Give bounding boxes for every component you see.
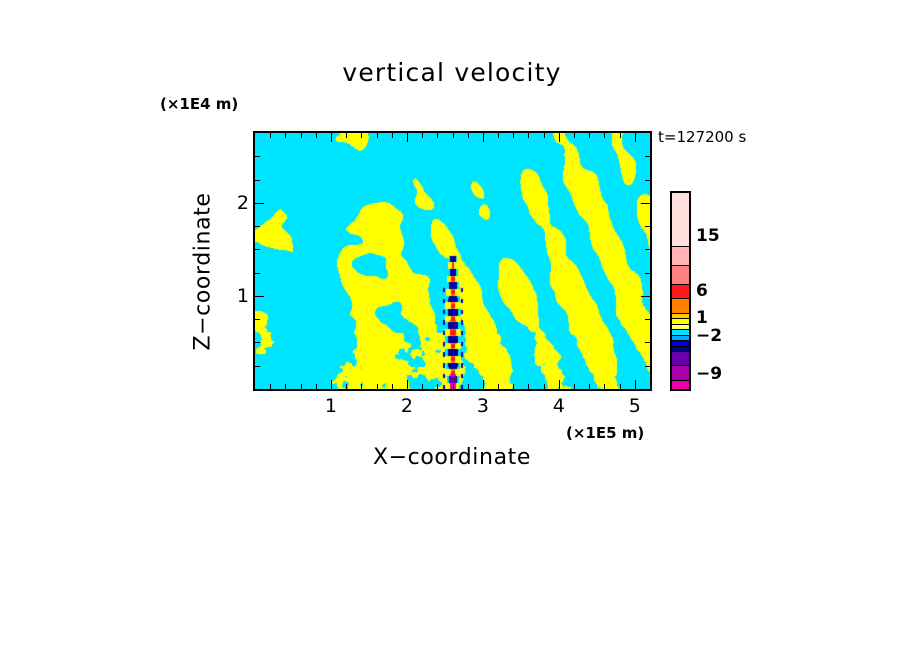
colorbar-band (672, 352, 689, 366)
axis-tick (316, 384, 317, 389)
axis-tick (620, 133, 621, 138)
axis-tick (437, 133, 438, 138)
axis-tick (574, 133, 575, 138)
axis-tick (453, 133, 454, 138)
colorbar-label--2: −2 (696, 326, 722, 346)
x-tick-label-1: 1 (325, 395, 337, 417)
axis-tick (641, 203, 650, 204)
plot-area (253, 131, 652, 391)
axis-tick (285, 384, 286, 389)
axis-tick (316, 133, 317, 138)
axis-tick (422, 133, 423, 138)
axis-tick (346, 384, 347, 389)
y-tick-label-1: 1 (223, 285, 249, 307)
axis-tick (574, 384, 575, 389)
axis-tick (483, 133, 484, 142)
axis-tick (589, 384, 590, 389)
x-tick-label-4: 4 (553, 395, 565, 417)
axis-tick (255, 203, 264, 204)
axis-tick (641, 296, 650, 297)
axis-tick (645, 226, 650, 227)
axis-tick (377, 133, 378, 138)
y-axis-unit-label: (×1E4 m) (160, 95, 238, 113)
axis-tick (498, 133, 499, 138)
colorbar-band (672, 285, 689, 299)
axis-tick (604, 133, 605, 138)
axis-tick (346, 133, 347, 138)
colorbar-label-15: 15 (696, 226, 720, 246)
x-tick-label-2: 2 (401, 395, 413, 417)
axis-tick (270, 133, 271, 138)
axis-tick (635, 380, 636, 389)
y-axis-title-text: Z−coordinate (191, 172, 216, 372)
axis-tick (285, 133, 286, 138)
axis-tick (645, 156, 650, 157)
axis-tick (620, 384, 621, 389)
axis-tick (361, 133, 362, 138)
axis-tick (255, 273, 260, 274)
axis-tick (270, 384, 271, 389)
axis-tick (422, 384, 423, 389)
axis-tick (544, 384, 545, 389)
axis-tick (255, 296, 264, 297)
axis-tick (528, 384, 529, 389)
axis-tick (255, 319, 260, 320)
time-annotation: t=127200 s (658, 128, 746, 146)
axis-tick (645, 366, 650, 367)
axis-tick (392, 133, 393, 138)
axis-tick (255, 226, 260, 227)
x-tick-label-5: 5 (629, 395, 641, 417)
axis-tick (255, 249, 260, 250)
colorbar-band (672, 299, 689, 313)
axis-tick (361, 384, 362, 389)
axis-tick (589, 133, 590, 138)
axis-tick (437, 384, 438, 389)
axis-tick (468, 133, 469, 138)
x-tick-label-3: 3 (477, 395, 489, 417)
axis-tick (392, 384, 393, 389)
axis-tick (645, 180, 650, 181)
colorbar-band (672, 247, 689, 266)
axis-tick (498, 384, 499, 389)
axis-tick (407, 133, 408, 142)
colorbar-label-1: 1 (696, 308, 708, 328)
colorbar (670, 191, 691, 391)
colorbar-band (672, 193, 689, 247)
axis-tick (377, 384, 378, 389)
axis-tick (559, 133, 560, 142)
x-axis-unit-label: (×1E5 m) (566, 424, 644, 442)
axis-tick (645, 273, 650, 274)
axis-tick (544, 133, 545, 138)
axis-tick (331, 133, 332, 142)
colorbar-band (672, 366, 689, 380)
y-tick-label-2: 2 (223, 192, 249, 214)
axis-tick (255, 342, 260, 343)
colorbar-band (672, 266, 689, 285)
axis-tick (483, 380, 484, 389)
page-title: vertical velocity (0, 58, 904, 87)
axis-tick (255, 366, 260, 367)
axis-tick (559, 380, 560, 389)
colorbar-label-6: 6 (696, 281, 708, 301)
axis-tick (513, 384, 514, 389)
axis-tick (301, 133, 302, 138)
axis-tick (407, 380, 408, 389)
axis-tick (635, 133, 636, 142)
axis-tick (468, 384, 469, 389)
colorbar-label--9: −9 (696, 364, 722, 384)
axis-tick (301, 384, 302, 389)
axis-tick (255, 156, 260, 157)
axis-tick (255, 180, 260, 181)
vertical-velocity-field (255, 133, 650, 389)
y-axis-title: Z−coordinate (190, 170, 216, 370)
axis-tick (331, 380, 332, 389)
axis-tick (513, 133, 514, 138)
axis-tick (645, 249, 650, 250)
colorbar-band (672, 381, 689, 391)
axis-tick (645, 319, 650, 320)
axis-tick (528, 133, 529, 138)
x-axis-title: X−coordinate (0, 445, 904, 470)
axis-tick (453, 384, 454, 389)
axis-tick (645, 342, 650, 343)
axis-tick (604, 384, 605, 389)
